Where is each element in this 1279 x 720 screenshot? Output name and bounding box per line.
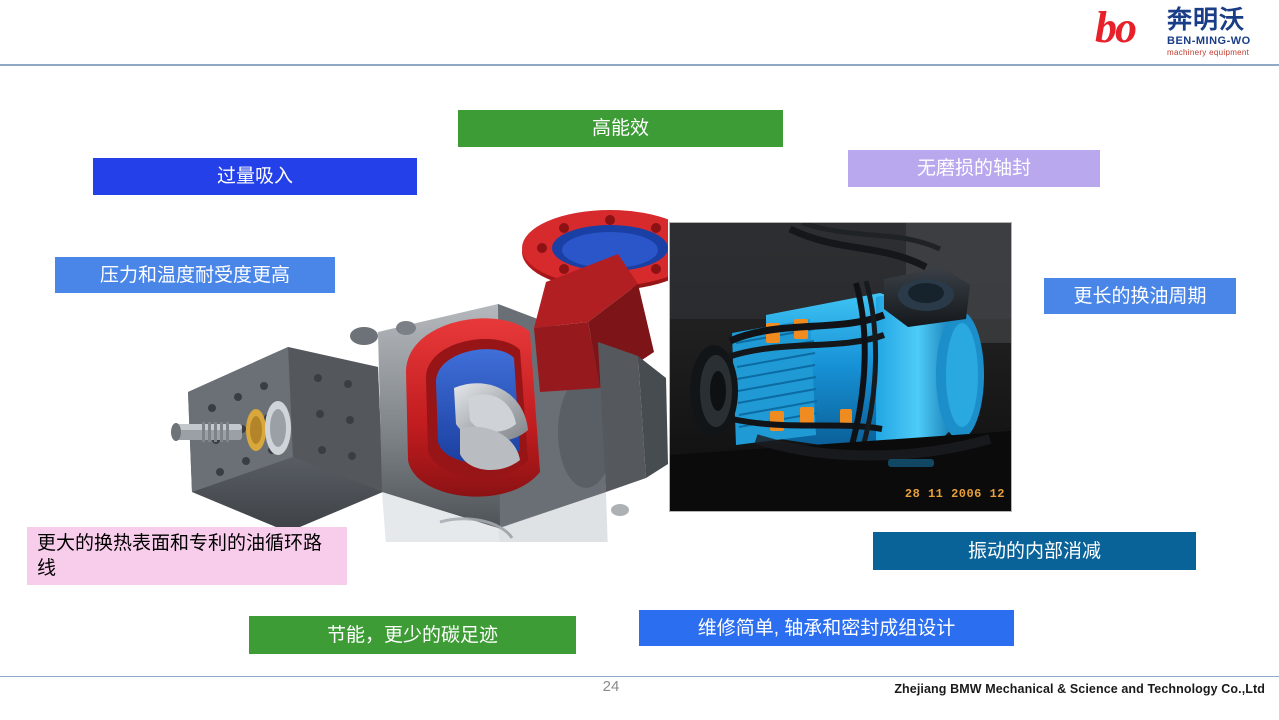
footer-divider	[0, 676, 1279, 677]
callout-shaft-seal: 无磨损的轴封	[848, 150, 1100, 187]
callout-over-suction: 过量吸入	[93, 158, 417, 195]
screw-compressor-cutaway-render	[168, 192, 668, 542]
company-logo: bo 奔明沃 BEN-MING-WO machinery equipment	[1095, 4, 1265, 62]
logo-monogram: bo	[1095, 6, 1135, 50]
callout-maintenance: 维修简单, 轴承和密封成组设计	[639, 610, 1014, 646]
callout-pressure-temperature: 压力和温度耐受度更高	[55, 257, 335, 293]
cad-illustration-icon	[168, 192, 668, 542]
callout-energy-saving: 节能，更少的碳足迹	[249, 616, 576, 654]
logo-chinese-name: 奔明沃	[1167, 6, 1245, 34]
logo-english-name: BEN-MING-WO	[1167, 35, 1251, 48]
blue-compressor-photo: 28 11 2006 12	[669, 222, 1012, 512]
header-divider	[0, 64, 1279, 66]
photo-date-stamp: 28 11 2006 12	[905, 487, 1005, 501]
callout-high-efficiency: 高能效	[458, 110, 783, 147]
callout-heat-exchange-surface: 更大的换热表面和专利的油循环路线	[27, 527, 347, 585]
callout-vibration-reduction: 振动的内部消减	[873, 532, 1196, 570]
page-number: 24	[596, 678, 626, 695]
callout-oil-change-interval: 更长的换油周期	[1044, 278, 1236, 314]
photo-illustration-icon	[670, 223, 1011, 511]
footer-company-name: Zhejiang BMW Mechanical & Science and Te…	[894, 682, 1265, 696]
logo-tagline: machinery equipment	[1167, 48, 1249, 58]
slide-canvas: bo 奔明沃 BEN-MING-WO machinery equipment	[0, 0, 1279, 720]
